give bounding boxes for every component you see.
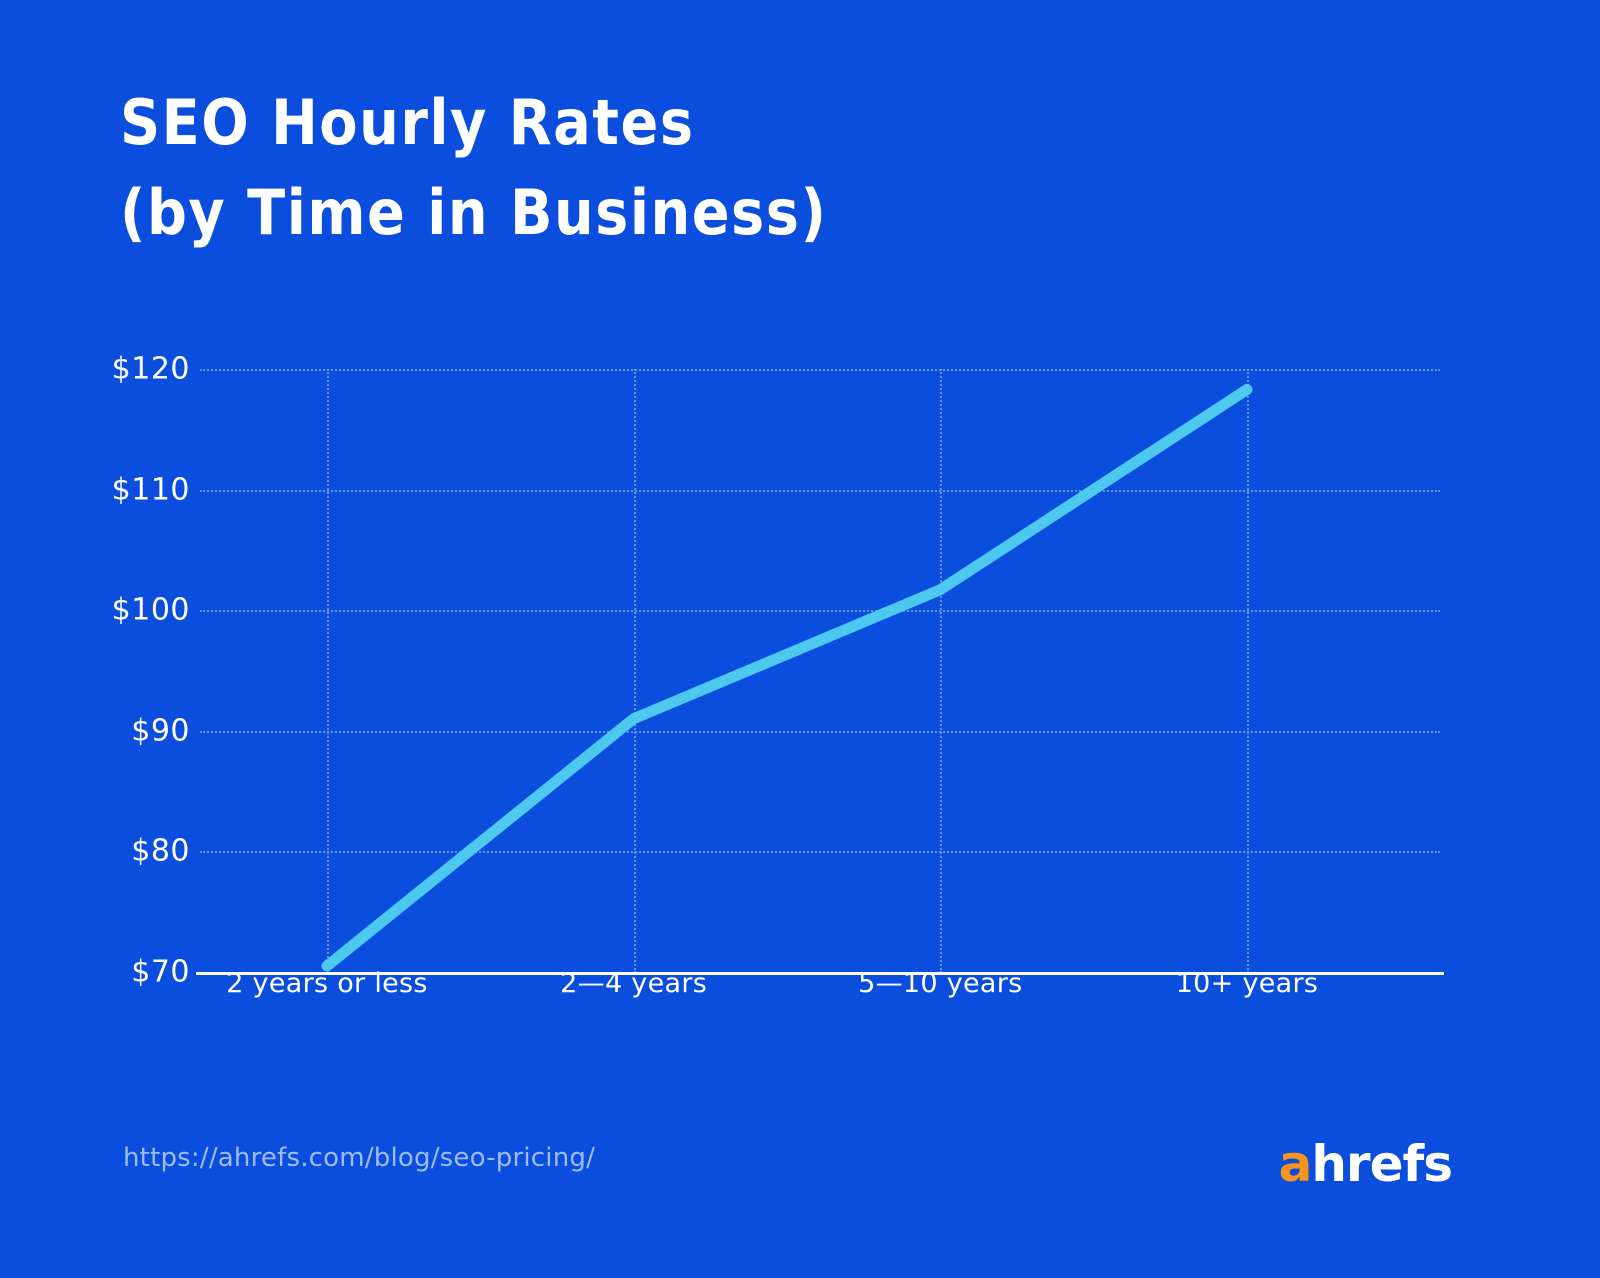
ahrefs-logo: ahrefs <box>1279 1138 1452 1190</box>
infographic-canvas: SEO Hourly Rates (by Time in Business) $… <box>0 0 1600 1278</box>
y-axis-tick-label: $100 <box>20 593 190 628</box>
gridline-vertical <box>327 369 329 973</box>
y-axis-tick-label: $90 <box>20 713 190 748</box>
y-axis-tick-label: $120 <box>20 352 190 387</box>
x-axis-tick-label: 10+ years <box>1047 968 1447 999</box>
y-axis-tick-label: $110 <box>20 472 190 507</box>
y-axis: $120$110$100$90$80$70 <box>10 0 190 1278</box>
gridline-vertical <box>940 369 942 973</box>
logo-text: hrefs <box>1311 1135 1452 1193</box>
y-axis-tick-label: $80 <box>20 834 190 869</box>
x-axis: 2 years or less2—4 years5—10 years10+ ye… <box>0 968 1600 1028</box>
logo-letter-a: a <box>1279 1135 1312 1193</box>
gridline-vertical <box>634 369 636 973</box>
gridline-horizontal <box>200 490 1440 492</box>
source-url[interactable]: https://ahrefs.com/blog/seo-pricing/ <box>123 1143 595 1173</box>
gridline-horizontal <box>200 731 1440 733</box>
gridline-horizontal <box>200 851 1440 853</box>
gridline-horizontal <box>200 369 1440 371</box>
plot-area <box>200 369 1440 973</box>
gridline-vertical <box>1247 369 1249 973</box>
gridline-horizontal <box>200 610 1440 612</box>
line-chart: $120$110$100$90$80$70 2 years or less2—4… <box>0 0 1600 1278</box>
